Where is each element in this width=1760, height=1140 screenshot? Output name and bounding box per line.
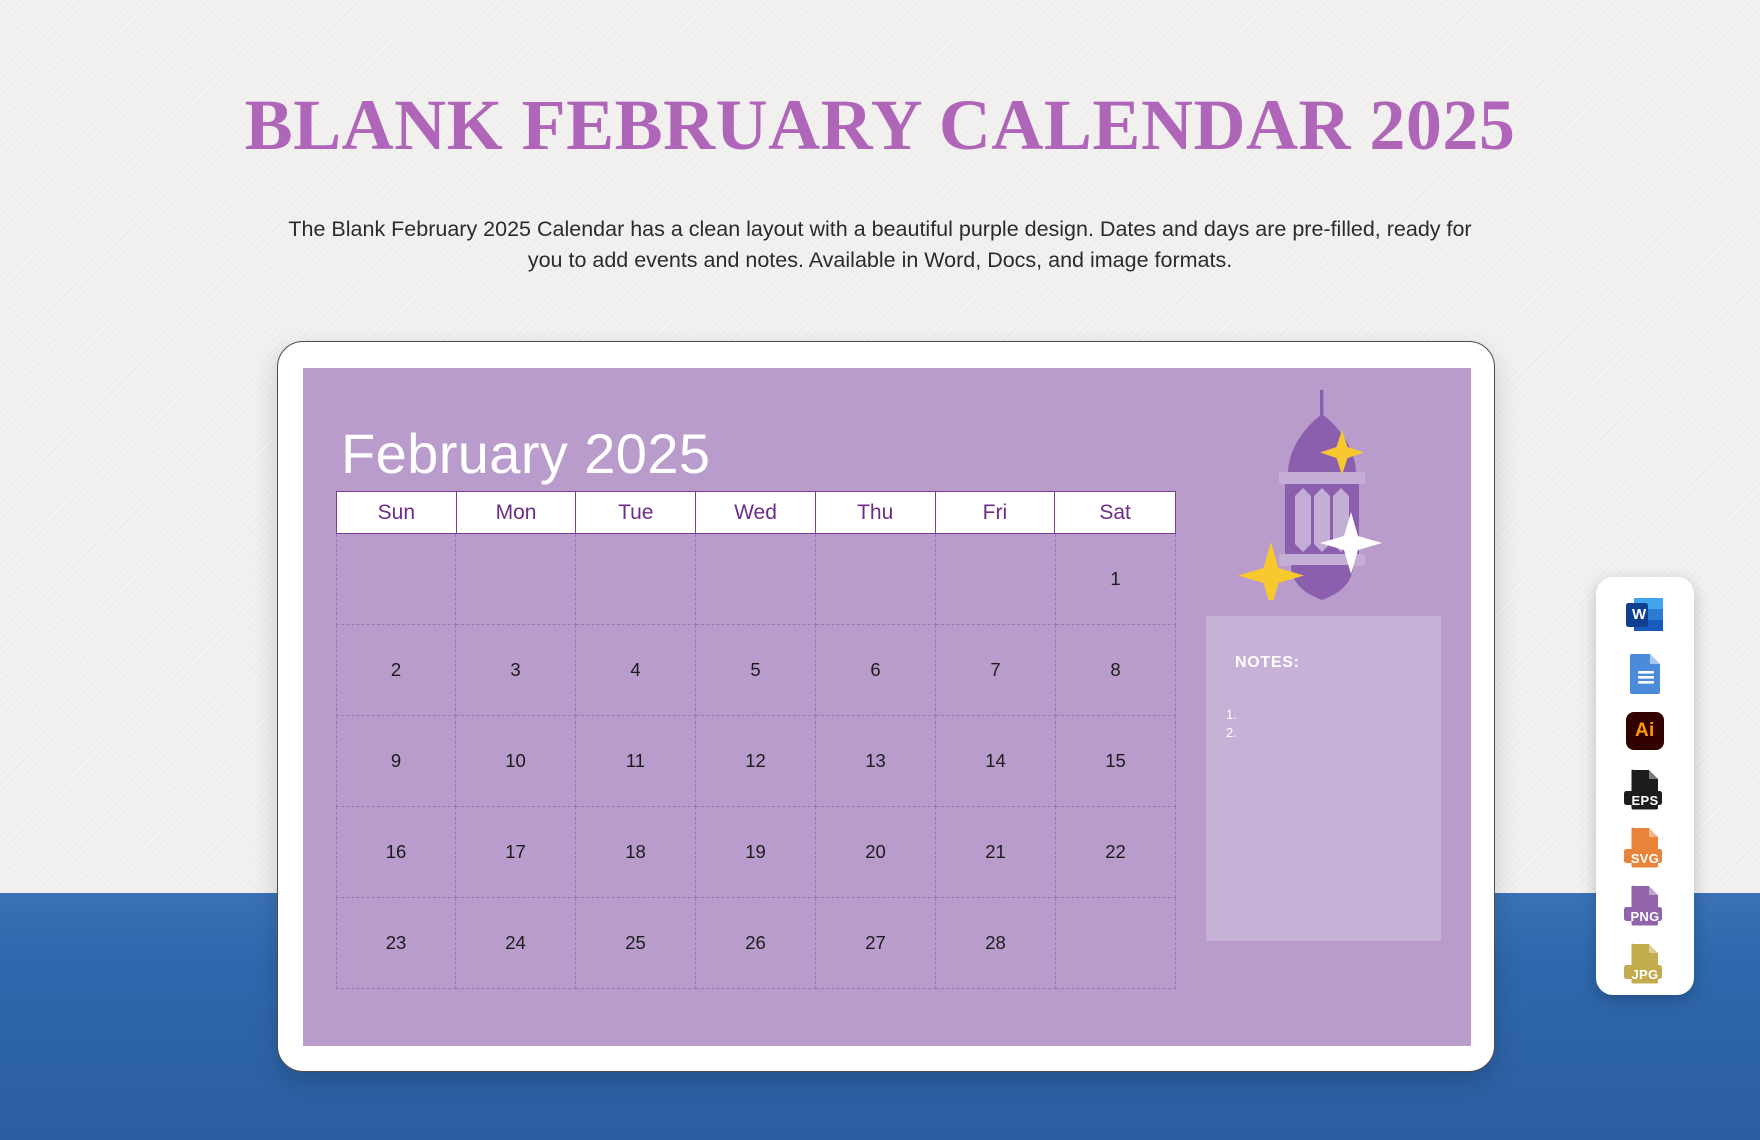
page-title: BLANK FEBRUARY CALENDAR 2025 <box>0 84 1760 167</box>
day-cell-10[interactable]: 10 <box>456 716 576 807</box>
day-cell-6[interactable]: 6 <box>816 625 936 716</box>
weekday-fri: Fri <box>936 492 1056 533</box>
word-icon[interactable]: W <box>1621 591 1669 639</box>
jpg-label: JPG <box>1621 967 1669 982</box>
weekday-thu: Thu <box>816 492 936 533</box>
day-cell-1[interactable]: 1 <box>1056 534 1176 625</box>
png-icon[interactable]: PNG <box>1621 881 1669 929</box>
svg-label: SVG <box>1621 851 1669 866</box>
weekday-header-row: Sun Mon Tue Wed Thu Fri Sat <box>336 491 1176 534</box>
day-cell-15[interactable]: 15 <box>1056 716 1176 807</box>
calendar-weeks: 1234567891011121314151617181920212223242… <box>336 534 1176 989</box>
weekday-sat: Sat <box>1055 492 1175 533</box>
calendar-screen: February 2025 Sun Mon Tue Wed Thu Fri <box>303 368 1471 1046</box>
day-cell-21[interactable]: 21 <box>936 807 1056 898</box>
weekday-wed: Wed <box>696 492 816 533</box>
day-cell-8[interactable]: 8 <box>1056 625 1176 716</box>
day-cell-empty[interactable] <box>936 534 1056 625</box>
day-cell-23[interactable]: 23 <box>336 898 456 989</box>
svg-icon[interactable]: SVG <box>1621 823 1669 871</box>
day-cell-26[interactable]: 26 <box>696 898 816 989</box>
day-cell-27[interactable]: 27 <box>816 898 936 989</box>
day-cell-17[interactable]: 17 <box>456 807 576 898</box>
day-cell-empty[interactable] <box>576 534 696 625</box>
tablet-frame: February 2025 Sun Mon Tue Wed Thu Fri <box>277 341 1495 1072</box>
month-title: February 2025 <box>341 421 710 486</box>
jpg-icon[interactable]: JPG <box>1621 939 1669 987</box>
day-cell-16[interactable]: 16 <box>336 807 456 898</box>
notes-item[interactable]: 1. <box>1226 706 1237 724</box>
calendar-grid: Sun Mon Tue Wed Thu Fri Sat 123456789101… <box>336 491 1176 989</box>
day-cell-12[interactable]: 12 <box>696 716 816 807</box>
eps-label: EPS <box>1621 793 1669 808</box>
day-cell-7[interactable]: 7 <box>936 625 1056 716</box>
notes-panel: NOTES: 1.2. <box>1206 616 1441 941</box>
day-cell-24[interactable]: 24 <box>456 898 576 989</box>
day-cell-empty[interactable] <box>816 534 936 625</box>
docs-icon[interactable] <box>1621 649 1669 697</box>
notes-item[interactable]: 2. <box>1226 724 1237 742</box>
weekday-sun: Sun <box>337 492 457 533</box>
word-label: W <box>1632 606 1646 623</box>
day-cell-empty[interactable] <box>456 534 576 625</box>
day-cell-3[interactable]: 3 <box>456 625 576 716</box>
day-cell-2[interactable]: 2 <box>336 625 456 716</box>
day-cell-11[interactable]: 11 <box>576 716 696 807</box>
day-cell-28[interactable]: 28 <box>936 898 1056 989</box>
png-label: PNG <box>1621 909 1669 924</box>
day-cell-14[interactable]: 14 <box>936 716 1056 807</box>
ai-label: Ai <box>1635 720 1655 742</box>
eps-icon[interactable]: EPS <box>1621 765 1669 813</box>
page-subtitle: The Blank February 2025 Calendar has a c… <box>280 214 1480 276</box>
notes-list: 1.2. <box>1226 706 1237 742</box>
day-cell-9[interactable]: 9 <box>336 716 456 807</box>
day-cell-25[interactable]: 25 <box>576 898 696 989</box>
day-cell-18[interactable]: 18 <box>576 807 696 898</box>
lantern-icon <box>1233 390 1413 600</box>
day-cell-empty[interactable] <box>696 534 816 625</box>
notes-title: NOTES: <box>1235 654 1300 672</box>
ai-icon[interactable]: Ai <box>1621 707 1669 755</box>
day-cell-5[interactable]: 5 <box>696 625 816 716</box>
day-cell-19[interactable]: 19 <box>696 807 816 898</box>
day-cell-20[interactable]: 20 <box>816 807 936 898</box>
day-cell-empty[interactable] <box>1056 898 1176 989</box>
day-cell-4[interactable]: 4 <box>576 625 696 716</box>
day-cell-22[interactable]: 22 <box>1056 807 1176 898</box>
day-cell-13[interactable]: 13 <box>816 716 936 807</box>
weekday-tue: Tue <box>576 492 696 533</box>
weekday-mon: Mon <box>457 492 577 533</box>
format-icon-strip: WAiEPSSVGPNGJPG <box>1596 577 1694 995</box>
day-cell-empty[interactable] <box>336 534 456 625</box>
